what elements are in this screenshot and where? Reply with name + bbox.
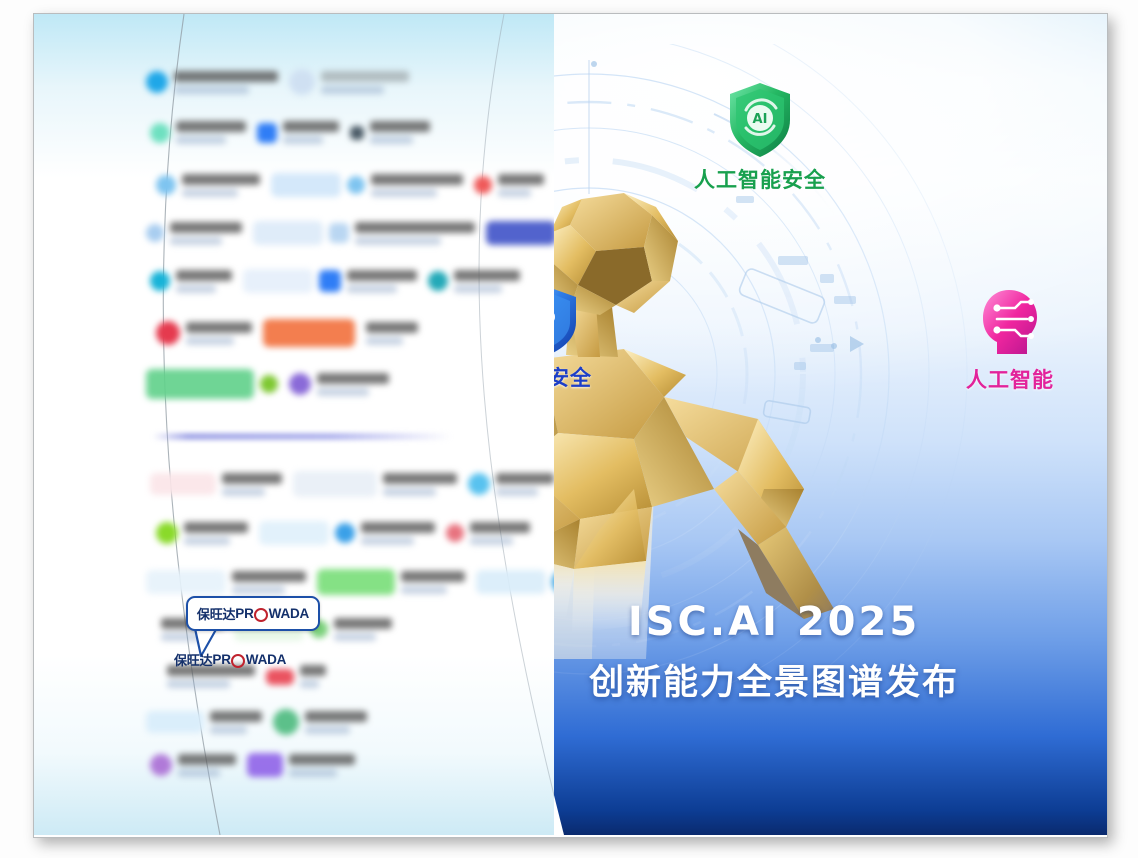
- logo-text-block: [355, 222, 475, 245]
- logo-text-bar: [383, 473, 457, 484]
- logo-text-block: [317, 373, 389, 396]
- logo-mark: [257, 123, 277, 143]
- logo-pill: [266, 669, 294, 685]
- logo-item: [486, 221, 554, 245]
- logo-row: [146, 69, 409, 95]
- node-artificial-intelligence-label: 人工智能: [966, 364, 1054, 394]
- logo-mark: [468, 473, 490, 495]
- logo-row: [150, 471, 554, 497]
- logo-subtext-bar: [317, 388, 369, 396]
- logo-mark: [150, 754, 172, 776]
- brand-pre-2: PR: [212, 652, 230, 667]
- logo-subtext-bar: [176, 136, 226, 144]
- logo-text-block: [178, 754, 236, 777]
- logo-pill: [486, 221, 554, 245]
- logo-text-block: [210, 711, 262, 734]
- logo-text-bar: [222, 473, 282, 484]
- logo-subtext-bar: [334, 633, 376, 641]
- logo-subtext-bar: [470, 537, 513, 545]
- logo-item: [150, 270, 232, 293]
- logo-text-block: [283, 121, 339, 144]
- logo-text-block: [366, 322, 418, 345]
- logo-item: [263, 319, 355, 347]
- logo-text-block: [186, 322, 252, 345]
- prowada-logo-text: 保旺达PRWADA: [174, 650, 286, 669]
- logo-text-bar: [355, 222, 475, 233]
- logo-pill: [146, 369, 254, 399]
- title-en: ISC.AI 2025: [464, 599, 1084, 645]
- logo-pill: [317, 569, 395, 595]
- logo-pill: [263, 319, 355, 347]
- logo-item: [289, 69, 409, 95]
- logo-text-bar: [305, 711, 367, 722]
- logo-mark: [428, 271, 448, 291]
- logo-pill: [247, 753, 283, 777]
- logo-mark: [552, 570, 554, 594]
- logo-text-block: [300, 665, 326, 688]
- logo-mark: [289, 373, 311, 395]
- brand-post: WADA: [269, 606, 309, 621]
- logo-text-block: [289, 754, 355, 777]
- logo-subtext-bar: [170, 237, 222, 245]
- brand-cn: 保旺达: [197, 604, 235, 623]
- logo-item: [156, 174, 260, 197]
- logo-text-block: [370, 121, 430, 144]
- logo-mark: [273, 709, 299, 735]
- logo-item: [257, 121, 339, 144]
- logo-text-bar: [321, 71, 409, 82]
- logo-row: [146, 569, 554, 595]
- logo-subtext-bar: [174, 86, 249, 94]
- logo-subtext-bar: [283, 136, 323, 144]
- logo-item: [146, 369, 278, 399]
- title-cn: 创新能力全景图谱发布: [464, 654, 1084, 705]
- logo-mark: [156, 321, 180, 345]
- logo-text-bar: [232, 571, 306, 582]
- logo-item: [474, 174, 544, 197]
- logo-subtext-bar: [496, 488, 538, 496]
- logo-pill: [146, 711, 204, 733]
- logo-text-block: [496, 473, 554, 496]
- logo-text-block: [222, 473, 282, 496]
- logo-text-block: [174, 71, 278, 94]
- logo-mark: [350, 126, 364, 140]
- logo-text-bar: [182, 174, 260, 185]
- presentation-slide: AI 人工智能安全 数字安: [33, 13, 1108, 838]
- logo-text-bar: [317, 373, 389, 384]
- logo-item: [247, 753, 355, 777]
- logo-item: [476, 570, 554, 594]
- logo-text-block: [347, 270, 417, 293]
- logo-text-bar: [370, 121, 430, 132]
- logo-mark: [474, 176, 492, 194]
- logo-pill: [271, 173, 341, 197]
- logo-subtext-bar: [300, 680, 319, 688]
- logo-item: [350, 121, 430, 144]
- logo-text-bar: [371, 174, 463, 185]
- prowada-callout[interactable]: 保旺达PRWADA: [186, 596, 320, 631]
- logo-subtext-bar: [222, 488, 265, 496]
- logo-item: [259, 521, 435, 545]
- logo-text-bar: [186, 322, 252, 333]
- logo-text-block: [361, 522, 435, 545]
- logo-text-bar: [334, 618, 392, 629]
- logo-item: [293, 471, 457, 497]
- logo-mark: [329, 223, 349, 243]
- logo-subtext-bar: [232, 586, 285, 594]
- blurred-logo-wall: [146, 69, 506, 779]
- brand-o-ring-icon-2: [231, 654, 245, 668]
- logo-text-bar: [184, 522, 248, 533]
- logo-subtext-bar: [186, 337, 234, 345]
- slide-titles: ISC.AI 2025 创新能力全景图谱发布: [464, 599, 1084, 705]
- logo-text-block: [184, 522, 248, 545]
- pink-head-circuit-icon: [975, 286, 1045, 360]
- prowada-logo-in-grid[interactable]: 保旺达PRWADA: [174, 650, 286, 669]
- logo-text-block: [176, 270, 232, 293]
- logo-text-bar: [361, 522, 435, 533]
- logo-subtext-bar: [305, 726, 350, 734]
- logo-item: [253, 221, 475, 245]
- brand-o-ring-icon: [254, 608, 268, 622]
- logo-mark: [150, 123, 170, 143]
- logo-text-block: [498, 174, 544, 197]
- logo-text-block: [232, 571, 306, 594]
- logo-row: [150, 269, 520, 293]
- prowada-brand-text: 保旺达PRWADA: [197, 604, 309, 623]
- logo-subtext-bar: [355, 237, 441, 245]
- logo-row: [156, 319, 418, 347]
- logo-subtext-bar: [178, 769, 220, 777]
- logo-text-bar: [300, 665, 326, 676]
- logo-item: [446, 522, 530, 545]
- logo-mark: [150, 271, 170, 291]
- brand-post-2: WADA: [246, 652, 286, 667]
- logo-item: [146, 711, 262, 734]
- logo-subtext-bar: [366, 337, 403, 345]
- logo-text-bar: [170, 222, 242, 233]
- logo-item: [146, 222, 242, 245]
- logo-item: [156, 522, 248, 545]
- logo-text-bar: [470, 522, 530, 533]
- logo-pill: [243, 269, 313, 293]
- logo-item: [289, 373, 389, 396]
- logo-subtext-bar: [498, 189, 531, 197]
- logo-item: [150, 754, 236, 777]
- logo-subtext-bar: [184, 537, 230, 545]
- logo-text-bar: [366, 322, 418, 333]
- logo-subtext-bar: [370, 136, 413, 144]
- logo-text-bar: [176, 121, 246, 132]
- logo-subtext-bar: [182, 189, 238, 197]
- logo-subtext-bar: [167, 680, 230, 688]
- logo-text-block: [305, 711, 367, 734]
- section-divider: [152, 433, 452, 440]
- logo-item: [271, 173, 463, 197]
- left-logo-panel: 保旺达PRWADA 保旺达PRWADA: [34, 14, 554, 835]
- logo-item: [150, 121, 246, 144]
- node-ai-security[interactable]: AI 人工智能安全: [694, 80, 826, 194]
- logo-text-block: [470, 522, 530, 545]
- logo-pill: [150, 473, 216, 495]
- logo-row: [156, 173, 544, 197]
- logo-subtext-bar: [176, 285, 216, 293]
- logo-item: [146, 71, 278, 94]
- logo-subtext-bar: [289, 769, 337, 777]
- logo-item: [273, 709, 367, 735]
- logo-pill: [476, 570, 546, 594]
- logo-subtext-bar: [347, 285, 397, 293]
- brand-pre: PR: [235, 606, 253, 621]
- brand-cn-2: 保旺达: [174, 650, 212, 669]
- logo-item: [150, 473, 282, 496]
- logo-pill: [293, 471, 377, 497]
- logo-pill: [146, 570, 226, 594]
- logo-mark: [260, 375, 278, 393]
- logo-item: [243, 269, 417, 293]
- logo-text-bar: [498, 174, 544, 185]
- logo-text-bar: [174, 71, 278, 82]
- logo-mark: [156, 175, 176, 195]
- logo-mark: [319, 270, 341, 292]
- logo-item: [428, 270, 520, 293]
- logo-mark: [156, 522, 178, 544]
- logo-subtext-bar: [371, 189, 437, 197]
- logo-subtext-bar: [454, 285, 502, 293]
- logo-text-block: [170, 222, 242, 245]
- logo-row: [146, 221, 554, 245]
- logo-item: [146, 570, 306, 594]
- logo-text-block: [401, 571, 465, 594]
- logo-pill: [253, 221, 323, 245]
- logo-text-bar: [283, 121, 339, 132]
- logo-text-block: [383, 473, 457, 496]
- logo-subtext-bar: [401, 586, 447, 594]
- logo-text-bar: [347, 270, 417, 281]
- logo-text-block: [371, 174, 463, 197]
- logo-row: [150, 753, 355, 777]
- logo-subtext-bar: [361, 537, 414, 545]
- logo-text-bar: [210, 711, 262, 722]
- logo-text-block: [182, 174, 260, 197]
- logo-pill: [259, 521, 329, 545]
- logo-text-block: [321, 71, 409, 94]
- node-ai-security-label: 人工智能安全: [694, 164, 826, 194]
- logo-text-bar: [454, 270, 520, 281]
- logo-mark: [146, 224, 164, 242]
- logo-text-block: [176, 121, 246, 144]
- svg-text:AI: AI: [753, 112, 768, 127]
- logo-text-block: [454, 270, 520, 293]
- logo-text-bar: [496, 473, 554, 484]
- logo-mark: [146, 71, 168, 93]
- logo-subtext-bar: [321, 86, 384, 94]
- logo-subtext-bar: [210, 726, 247, 734]
- logo-text-block: [334, 618, 392, 641]
- logo-item: [468, 473, 554, 496]
- logo-item: [317, 569, 465, 595]
- logo-item: [156, 321, 252, 345]
- logo-text-bar: [289, 754, 355, 765]
- screenshot-root: AI 人工智能安全 数字安: [0, 0, 1138, 858]
- logo-text-bar: [176, 270, 232, 281]
- node-artificial-intelligence[interactable]: 人工智能: [966, 286, 1054, 394]
- logo-text-bar: [401, 571, 465, 582]
- green-shield-ai-icon: AI: [724, 80, 796, 160]
- logo-row: [150, 121, 430, 144]
- logo-text-bar: [178, 754, 236, 765]
- logo-mark: [335, 523, 355, 543]
- logo-mark: [347, 176, 365, 194]
- logo-item: [366, 322, 418, 345]
- logo-row: [146, 369, 389, 399]
- logo-row: [156, 521, 530, 545]
- logo-mark: [446, 524, 464, 542]
- logo-row: [146, 709, 367, 735]
- logo-mark: [289, 69, 315, 95]
- logo-subtext-bar: [383, 488, 436, 496]
